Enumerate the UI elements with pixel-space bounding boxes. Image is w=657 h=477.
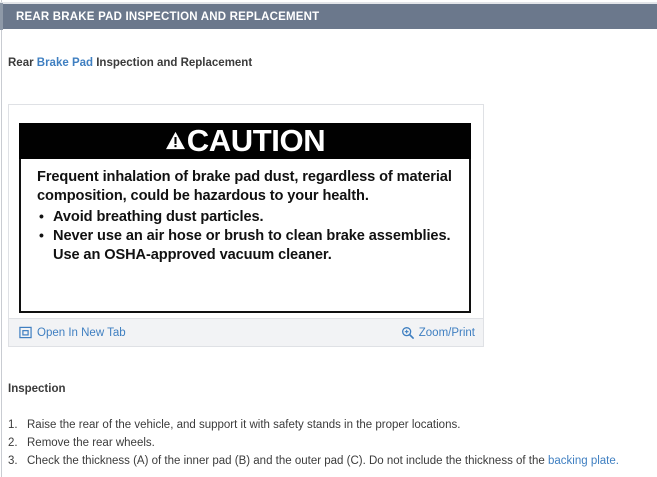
figure-image-area[interactable]: CAUTION Frequent inhalation of brake pad… [9, 105, 483, 318]
inspection-heading: Inspection [8, 383, 66, 395]
step-text: Raise the rear of the vehicle, and suppo… [27, 419, 460, 431]
caution-word: CAUTION [187, 125, 325, 156]
open-in-new-tab-button[interactable]: Open In New Tab [19, 326, 126, 339]
zoom-print-button[interactable]: Zoom/Print [401, 326, 475, 339]
inspection-step-item: 3.Check the thickness (A) of the inner p… [8, 452, 653, 470]
subtitle-suffix: Inspection and Replacement [93, 57, 252, 69]
caution-label-graphic: CAUTION Frequent inhalation of brake pad… [19, 123, 471, 313]
inspection-step-item: 1.Raise the rear of the vehicle, and sup… [8, 416, 653, 434]
caution-body: Frequent inhalation of brake pad dust, r… [19, 159, 471, 313]
page-header-bar: REAR BRAKE PAD INSPECTION AND REPLACEMEN… [0, 2, 657, 29]
open-in-new-tab-label: Open In New Tab [37, 327, 126, 339]
magnifier-plus-icon [401, 326, 414, 339]
figure-panel: CAUTION Frequent inhalation of brake pad… [8, 104, 484, 347]
section-subtitle: Rear Brake Pad Inspection and Replacemen… [8, 57, 252, 69]
inspection-step-list: 1.Raise the rear of the vehicle, and sup… [8, 416, 653, 470]
step-text: Check the thickness (A) of the inner pad… [27, 455, 548, 467]
step-number: 1. [8, 416, 27, 434]
step-number: 2. [8, 434, 27, 452]
figure-toolbar: Open In New Tab Zoom/Print [9, 318, 483, 346]
caution-banner: CAUTION [19, 123, 471, 159]
document-page: REAR BRAKE PAD INSPECTION AND REPLACEMEN… [0, 0, 657, 477]
subtitle-prefix: Rear [8, 57, 37, 69]
page-left-rule [1, 0, 2, 477]
caution-lead-text: Frequent inhalation of brake pad dust, r… [37, 168, 455, 206]
inspection-step-item: 2.Remove the rear wheels. [8, 434, 653, 452]
warning-triangle-icon [165, 131, 186, 150]
caution-bullet-list: Avoid breathing dust particles. Never us… [37, 208, 455, 265]
step-number: 3. [8, 452, 27, 470]
caution-bullet-item: Never use an air hose or brush to clean … [37, 227, 455, 265]
caution-bullet-item: Avoid breathing dust particles. [37, 208, 455, 227]
step-text: Remove the rear wheels. [27, 437, 155, 449]
page-title: REAR BRAKE PAD INSPECTION AND REPLACEMEN… [3, 11, 319, 23]
zoom-print-label: Zoom/Print [419, 327, 475, 339]
open-in-new-window-icon [19, 326, 32, 339]
caution-banner-inner: CAUTION [165, 125, 325, 156]
brake-pad-link[interactable]: Brake Pad [37, 57, 93, 69]
backing-plate-link[interactable]: backing plate. [548, 455, 619, 467]
